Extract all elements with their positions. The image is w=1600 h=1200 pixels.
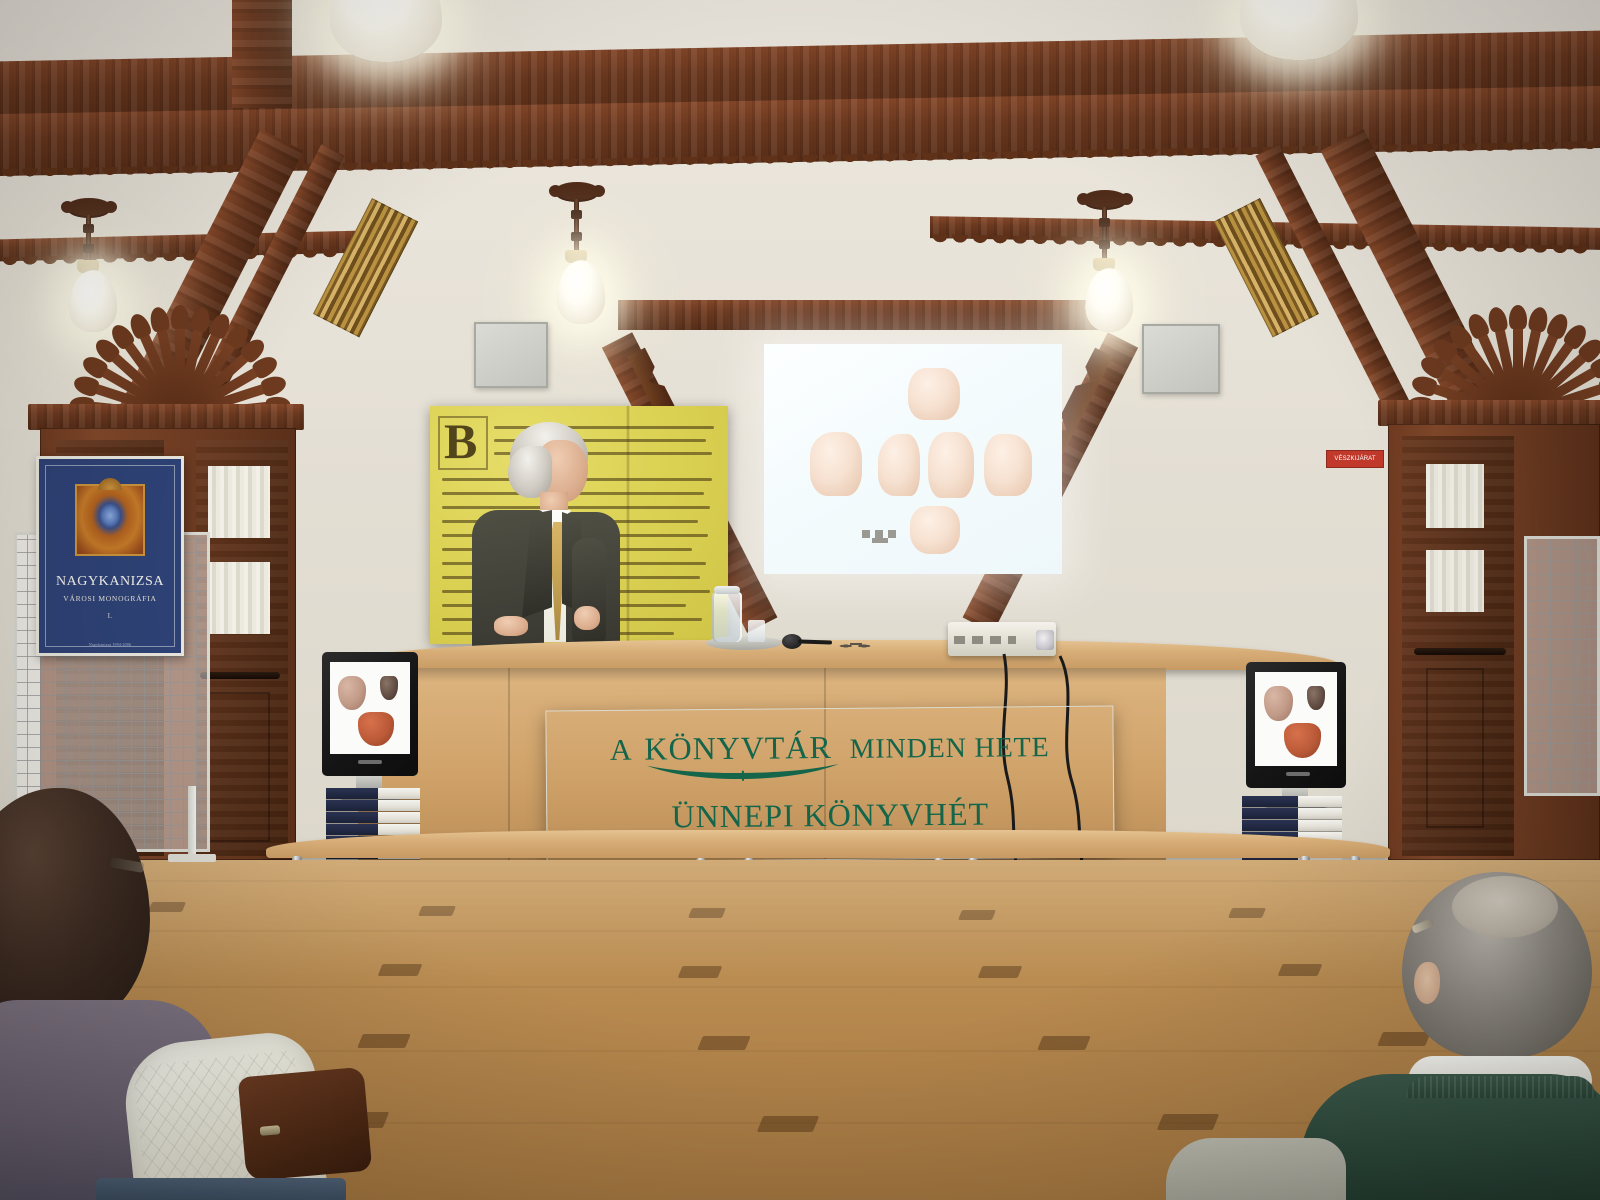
fan-ornament-right (1418, 286, 1600, 416)
lamp-knob-4b (571, 232, 582, 241)
pendant-lamp-5 (1068, 190, 1142, 342)
lamp-shade-4 (557, 260, 605, 324)
presenter-hand-left (494, 616, 528, 636)
fan-ornament-left (80, 286, 280, 416)
lamp-knob-4 (571, 210, 582, 219)
projected-scale-bar-2 (872, 538, 888, 543)
poster-illumination (75, 484, 145, 556)
poster-footer: Nagykanizsa 1994-2006 (36, 642, 184, 647)
banner-word-minden-hete: MINDEN HETE (850, 732, 1050, 765)
pendant-lamp-4 (540, 182, 614, 334)
drinking-glass (748, 620, 765, 642)
list-item (1242, 808, 1342, 819)
right-monitor (1246, 662, 1346, 788)
exit-sign: VÉSZKIJÁRAT (1326, 450, 1384, 468)
banner-word-a: A (610, 734, 633, 767)
lamp-knob-5b (1099, 240, 1110, 249)
door-pane-left-lower (208, 562, 270, 634)
audience-left (0, 782, 380, 1200)
exit-sign-label: VÉSZKIJÁRAT (1334, 456, 1375, 462)
poster-title: NAGYKANIZSA (36, 574, 184, 590)
door-curtain-right-lower (1426, 550, 1484, 612)
door-panel-right-lower (1426, 668, 1484, 828)
lamp-knob-3b (83, 244, 94, 253)
projector-ports (954, 636, 1016, 644)
list-item (1242, 796, 1342, 807)
projection-screen (764, 344, 1062, 574)
presenter-hand-right (574, 606, 600, 630)
left-monitor-vessel-3 (358, 712, 394, 746)
door-curtain-left-upper (208, 466, 270, 538)
pendant-lamp-2 (1240, 0, 1358, 62)
door-curtain-left-lower (208, 562, 270, 634)
audience-right-shoulder (1166, 1138, 1346, 1200)
lamp-shade-2 (1240, 0, 1358, 60)
lamp-rosette-3 (67, 198, 111, 216)
projected-fragment-left-inner (878, 434, 920, 496)
right-monitor-brand (1286, 772, 1310, 776)
presentation-hall-photo: VÉSZKIJÁRAT NAGYKANIZSA VÁROSI MONOGRÁFI… (0, 0, 1600, 1200)
list-item (1242, 820, 1342, 831)
audience-left-handbag (238, 1067, 373, 1182)
left-monitor-screen (330, 662, 410, 754)
audience-right-sweater-rib (1406, 1076, 1596, 1098)
door-push-bar-right[interactable] (1414, 648, 1506, 655)
lamp-knob-3 (83, 224, 94, 233)
door-curtain-right-upper (1426, 464, 1484, 528)
projected-fragment-right-outer (984, 434, 1032, 496)
lamp-rosette-5 (1083, 190, 1127, 208)
right-monitor-vessel-1 (1264, 686, 1293, 721)
banner-word-unnepi-konyvhet: ÜNNEPI KÖNYVHÉT (671, 796, 989, 835)
door-push-bar-left[interactable] (200, 672, 280, 679)
lamp-shade-1 (330, 0, 442, 62)
eyeglasses-bridge (850, 643, 862, 645)
lamp-shade-5 (1085, 268, 1133, 332)
door-pane-right-lower (1426, 550, 1484, 612)
right-monitor-vessel-3 (1284, 723, 1321, 758)
left-monitor-vessel-1 (338, 676, 366, 710)
lamp-knob-5 (1099, 218, 1110, 227)
charter-fold-crease (626, 406, 630, 644)
audience-left-hair (0, 788, 150, 1028)
poster-nagykanizsa: NAGYKANIZSA VÁROSI MONOGRÁFIA I. Nagykan… (36, 456, 184, 656)
lamp-cord-4 (574, 199, 579, 251)
audience-left-handbag-buckle (260, 1125, 281, 1136)
book-swoosh-icon (645, 761, 841, 789)
right-monitor-screen (1255, 672, 1337, 766)
left-monitor (322, 652, 418, 776)
audience-left-chairback (96, 1178, 346, 1200)
projected-fragment-top (908, 368, 960, 420)
door-pane-right-upper (1426, 464, 1484, 528)
projector-lens (1036, 630, 1054, 650)
mesh-display-panel-right (1524, 536, 1600, 796)
audience-right-ear (1414, 962, 1440, 1004)
water-pitcher (712, 592, 742, 642)
presenter-hair-side (508, 446, 552, 498)
door-leaf-right[interactable] (1402, 436, 1514, 856)
audience-right-bald-crown (1452, 876, 1558, 938)
right-monitor-vessel-2 (1307, 686, 1325, 710)
wall-speaker-left (474, 322, 548, 388)
projected-fragment-center (928, 432, 974, 498)
eyeglasses (836, 640, 874, 652)
poster-subtitle: VÁROSI MONOGRÁFIA (36, 594, 184, 603)
left-monitor-brand (358, 760, 382, 764)
left-monitor-vessel-2 (380, 676, 398, 700)
lamp-rosette-4 (555, 182, 599, 200)
door-header-right (1378, 400, 1600, 426)
poster-volume: I. (36, 612, 184, 620)
presenter-arm-right (572, 538, 606, 648)
wall-speaker-right (1142, 324, 1220, 394)
projected-fragment-bottom (910, 506, 960, 554)
lamp-cord-3 (86, 215, 91, 261)
lamp-cord-5 (1102, 207, 1107, 259)
pendant-lamp-1 (330, 0, 442, 64)
water-pitcher-lid (714, 586, 740, 594)
audience-right (1130, 850, 1600, 1200)
ceiling-beam-cross-left (232, 0, 292, 108)
projected-fragment-left-outer (810, 432, 862, 496)
door-header-left (28, 404, 304, 430)
projected-scale-bar (862, 530, 900, 538)
door-pane-left-upper (208, 466, 270, 538)
